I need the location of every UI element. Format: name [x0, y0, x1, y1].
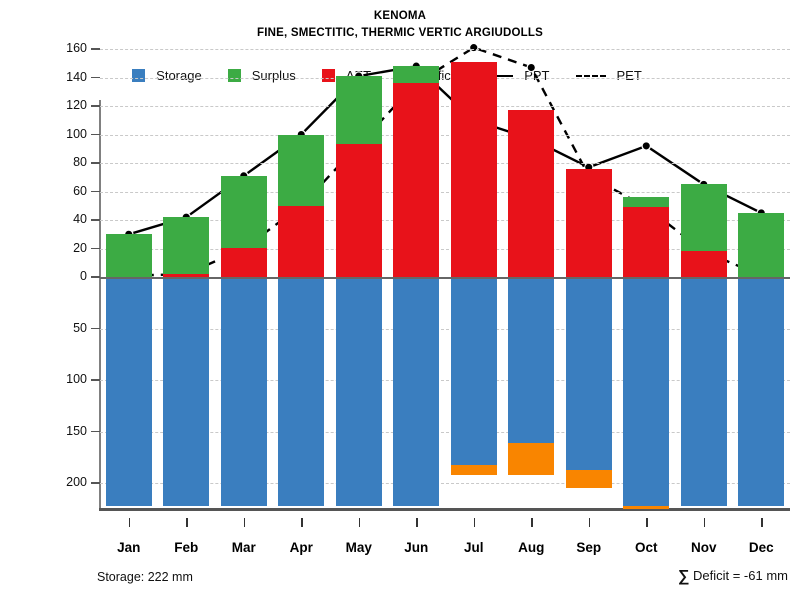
bar-below-zero [106, 277, 152, 506]
y-tick-mark [91, 379, 100, 381]
x-tick-mark [761, 518, 763, 527]
chart-canvas: KENOMA FINE, SMECTITIC, THERMIC VERTIC A… [0, 0, 800, 600]
x-axis-label-dec: Dec [731, 540, 791, 555]
bar-above-zero [163, 217, 209, 277]
bar-segment-aet [393, 83, 439, 277]
bar-below-zero [738, 277, 784, 506]
y-tick-mark [91, 328, 100, 330]
y-tick-label: 80 [73, 155, 87, 169]
bar-segment-storage [221, 277, 267, 506]
bar-segment-surplus [278, 135, 324, 206]
x-tick-mark [474, 518, 476, 527]
bar-segment-storage [738, 277, 784, 506]
x-axis-label-sep: Sep [559, 540, 619, 555]
bar-segment-aet [221, 248, 267, 277]
bar-above-zero [508, 110, 554, 277]
y-tick-label: 40 [73, 212, 87, 226]
x-tick-mark [244, 518, 246, 527]
data-point-marker [642, 142, 650, 150]
title-line-2: FINE, SMECTITIC, THERMIC VERTIC ARGIUDOL… [0, 25, 800, 42]
bar-above-zero [738, 213, 784, 277]
data-point-marker [470, 43, 478, 51]
y-tick-mark [91, 191, 100, 193]
dashed-line-icon [576, 75, 606, 77]
bar-below-zero [451, 277, 497, 475]
bar-segment-storage [336, 277, 382, 506]
legend-item-surplus[interactable]: Surplus [228, 68, 296, 83]
bar-below-zero [336, 277, 382, 506]
bar-above-zero [681, 184, 727, 277]
bar-segment-storage [393, 277, 439, 506]
bar-segment-aet [451, 62, 497, 277]
legend-label: PET [617, 68, 642, 83]
bar-segment-aet [336, 144, 382, 277]
gridline [100, 49, 790, 50]
square-swatch-icon [228, 69, 241, 82]
square-swatch-icon [132, 69, 145, 82]
bar-segment-storage [278, 277, 324, 506]
x-axis-label-may: May [329, 540, 389, 555]
x-tick-mark [589, 518, 591, 527]
legend-label: Surplus [252, 68, 296, 83]
bar-segment-deficit [451, 465, 497, 474]
bar-below-zero [221, 277, 267, 506]
bar-below-zero [393, 277, 439, 506]
bar-segment-deficit [508, 443, 554, 475]
legend-label: Storage [156, 68, 202, 83]
bar-above-zero [106, 234, 152, 277]
y-tick-mark [91, 162, 100, 164]
x-axis-label-apr: Apr [271, 540, 331, 555]
bar-above-zero [336, 76, 382, 277]
square-swatch-icon [322, 69, 335, 82]
y-tick-mark [91, 77, 100, 79]
x-tick-mark [129, 518, 131, 527]
x-tick-mark [301, 518, 303, 527]
y-tick-mark [91, 105, 100, 107]
storage-annotation: Storage: 222 mm [97, 570, 193, 584]
bar-segment-storage [106, 277, 152, 506]
x-axis-label-feb: Feb [156, 540, 216, 555]
bar-segment-surplus [738, 213, 784, 277]
y-tick-label: 20 [73, 241, 87, 255]
bar-above-zero [221, 176, 267, 277]
gridline [100, 106, 790, 107]
y-tick-label: 140 [66, 70, 87, 84]
bar-above-zero [393, 66, 439, 277]
x-axis-label-oct: Oct [616, 540, 676, 555]
bar-segment-aet [566, 169, 612, 277]
x-axis-label-jan: Jan [99, 540, 159, 555]
bar-below-zero [508, 277, 554, 475]
bar-above-zero [566, 169, 612, 277]
bar-above-zero [451, 62, 497, 277]
title-line-1: KENOMA [0, 8, 800, 25]
y-tick-mark [91, 48, 100, 50]
y-tick-label: 100 [66, 372, 87, 386]
plot-area [100, 100, 790, 510]
gridline [100, 163, 790, 164]
y-tick-mark [91, 248, 100, 250]
y-tick-label: 200 [66, 475, 87, 489]
bar-segment-surplus [336, 76, 382, 144]
deficit-annotation: ∑ Deficit = -61 mm [678, 568, 788, 586]
y-tick-mark [91, 431, 100, 433]
bar-below-zero [681, 277, 727, 506]
x-axis-label-jun: Jun [386, 540, 446, 555]
x-tick-mark [646, 518, 648, 527]
chart-title: KENOMA FINE, SMECTITIC, THERMIC VERTIC A… [0, 8, 800, 42]
zero-line [100, 277, 790, 279]
bar-segment-surplus [623, 197, 669, 207]
bar-below-zero [566, 277, 612, 488]
y-tick-mark [91, 134, 100, 136]
bar-below-zero [278, 277, 324, 506]
bar-segment-surplus [681, 184, 727, 251]
y-tick-label: 100 [66, 127, 87, 141]
x-tick-mark [186, 518, 188, 527]
y-tick-label: 50 [73, 321, 87, 335]
y-tick-label: 60 [73, 184, 87, 198]
bar-segment-aet [623, 207, 669, 277]
bar-segment-storage [163, 277, 209, 506]
bar-segment-deficit [623, 506, 669, 509]
y-tick-label: 160 [66, 41, 87, 55]
bar-above-zero [278, 135, 324, 278]
bar-segment-surplus [163, 217, 209, 274]
y-tick-label: 150 [66, 424, 87, 438]
bar-above-zero [623, 197, 669, 277]
bar-segment-surplus [393, 66, 439, 83]
x-axis-label-jul: Jul [444, 540, 504, 555]
bar-segment-storage [623, 277, 669, 506]
bar-segment-deficit [566, 470, 612, 489]
y-tick-label: 0 [80, 269, 87, 283]
bar-segment-storage [508, 277, 554, 443]
x-axis-label-mar: Mar [214, 540, 274, 555]
bar-segment-storage [681, 277, 727, 506]
y-tick-mark [91, 276, 100, 278]
bar-segment-aet [508, 110, 554, 277]
bar-below-zero [623, 277, 669, 509]
x-axis-label-nov: Nov [674, 540, 734, 555]
bar-segment-storage [566, 277, 612, 470]
y-tick-label: 120 [66, 98, 87, 112]
y-tick-mark [91, 219, 100, 221]
x-axis-label-aug: Aug [501, 540, 561, 555]
x-tick-mark [704, 518, 706, 527]
bar-below-zero [163, 277, 209, 506]
sigma-icon: ∑ [678, 568, 689, 585]
deficit-annotation-text: Deficit = -61 mm [689, 568, 788, 583]
legend-item-pet[interactable]: PET [576, 68, 642, 83]
bar-segment-storage [451, 277, 497, 465]
data-point-marker [527, 63, 535, 71]
bar-segment-surplus [221, 176, 267, 249]
bar-segment-aet [278, 206, 324, 277]
legend-item-storage[interactable]: Storage [132, 68, 202, 83]
gridline [100, 78, 790, 79]
y-tick-mark [91, 482, 100, 484]
x-tick-mark [359, 518, 361, 527]
x-tick-mark [416, 518, 418, 527]
bar-segment-surplus [106, 234, 152, 277]
gridline [100, 135, 790, 136]
bar-segment-aet [681, 251, 727, 277]
x-tick-mark [531, 518, 533, 527]
